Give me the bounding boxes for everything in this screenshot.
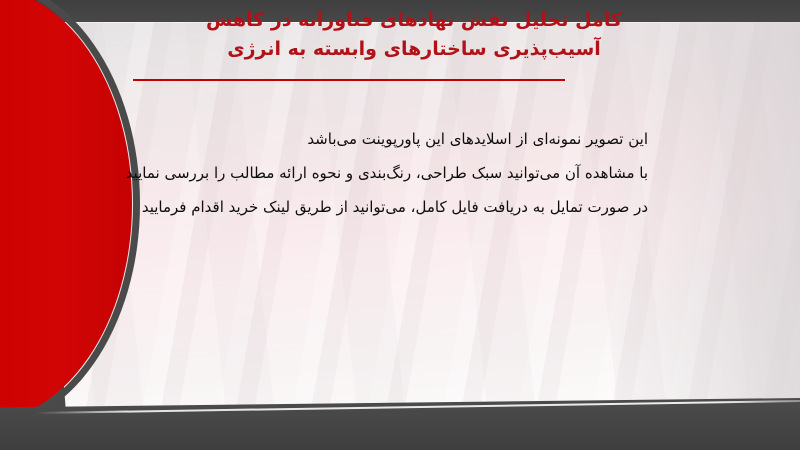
body-text-line-2: با مشاهده آن می‌توانید سبک طراحی، رنگ‌بن… [148, 156, 648, 190]
slide-title: کامل تحلیل نقش نهادهای فناورانه در کاهش … [64, 6, 764, 64]
title-underline [133, 79, 565, 81]
slide-body-text: این تصویر نمونه‌ای از اسلایدهای این پاور… [148, 122, 648, 224]
presentation-slide: کامل تحلیل نقش نهادهای فناورانه در کاهش … [0, 0, 800, 450]
slide-title-line-2: آسیب‌پذیری ساختارهای وابسته به انرژی [64, 35, 764, 64]
body-text-line-3: در صورت تمایل به دریافت فایل کامل، می‌تو… [148, 190, 648, 224]
slide-title-line-1: کامل تحلیل نقش نهادهای فناورانه در کاهش [64, 6, 764, 35]
body-text-line-1: این تصویر نمونه‌ای از اسلایدهای این پاور… [148, 122, 648, 156]
